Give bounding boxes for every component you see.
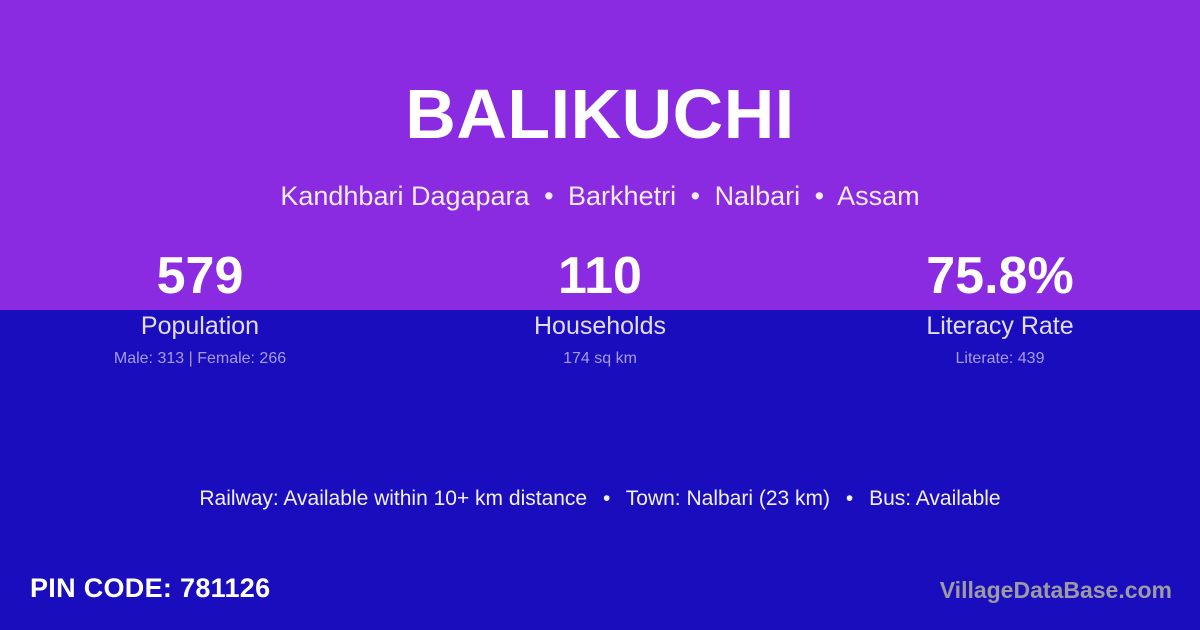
breadcrumb-part-2: Nalbari [715,181,801,211]
breadcrumb: Kandhbari Dagapara • Barkhetri • Nalbari… [0,182,1200,212]
connectivity-bus: Bus: Available [869,487,1001,510]
stat-label: Population [0,311,400,341]
connectivity-town: Town: Nalbari (23 km) [626,487,830,510]
page-title: BALIKUCHI [0,79,1200,149]
stat-value: 75.8% [800,246,1200,306]
breadcrumb-part-3: Assam [837,181,920,211]
pin-code: PIN CODE: 781126 [30,572,270,604]
stat-value: 110 [400,246,800,306]
connectivity-separator: • [836,487,863,510]
stat-value: 579 [0,246,400,306]
footer: PIN CODE: 781126 VillageDataBase.com [0,560,1200,630]
breadcrumb-separator: • [537,181,560,211]
stat-literacy-rate: 75.8% Literacy Rate Literate: 439 [800,246,1200,369]
stat-households: 110 Households 174 sq km [400,246,800,369]
stat-sublabel: 174 sq km [400,349,800,369]
stat-label: Households [400,311,800,341]
stat-sublabel: Male: 313 | Female: 266 [0,349,400,369]
village-info-card: BALIKUCHI Kandhbari Dagapara • Barkhetri… [0,0,1200,630]
site-watermark: VillageDataBase.com [940,576,1172,604]
stat-population: 579 Population Male: 313 | Female: 266 [0,246,400,369]
breadcrumb-separator: • [684,181,707,211]
connectivity-railway: Railway: Available within 10+ km distanc… [199,487,587,510]
stat-sublabel: Literate: 439 [800,349,1200,369]
connectivity-separator: • [593,487,620,510]
stat-label: Literacy Rate [800,311,1200,341]
breadcrumb-part-1: Barkhetri [568,181,676,211]
breadcrumb-part-0: Kandhbari Dagapara [280,181,529,211]
breadcrumb-separator: • [808,181,831,211]
stats-row: 579 Population Male: 313 | Female: 266 1… [0,246,1200,369]
connectivity-line: Railway: Available within 10+ km distanc… [0,486,1200,512]
